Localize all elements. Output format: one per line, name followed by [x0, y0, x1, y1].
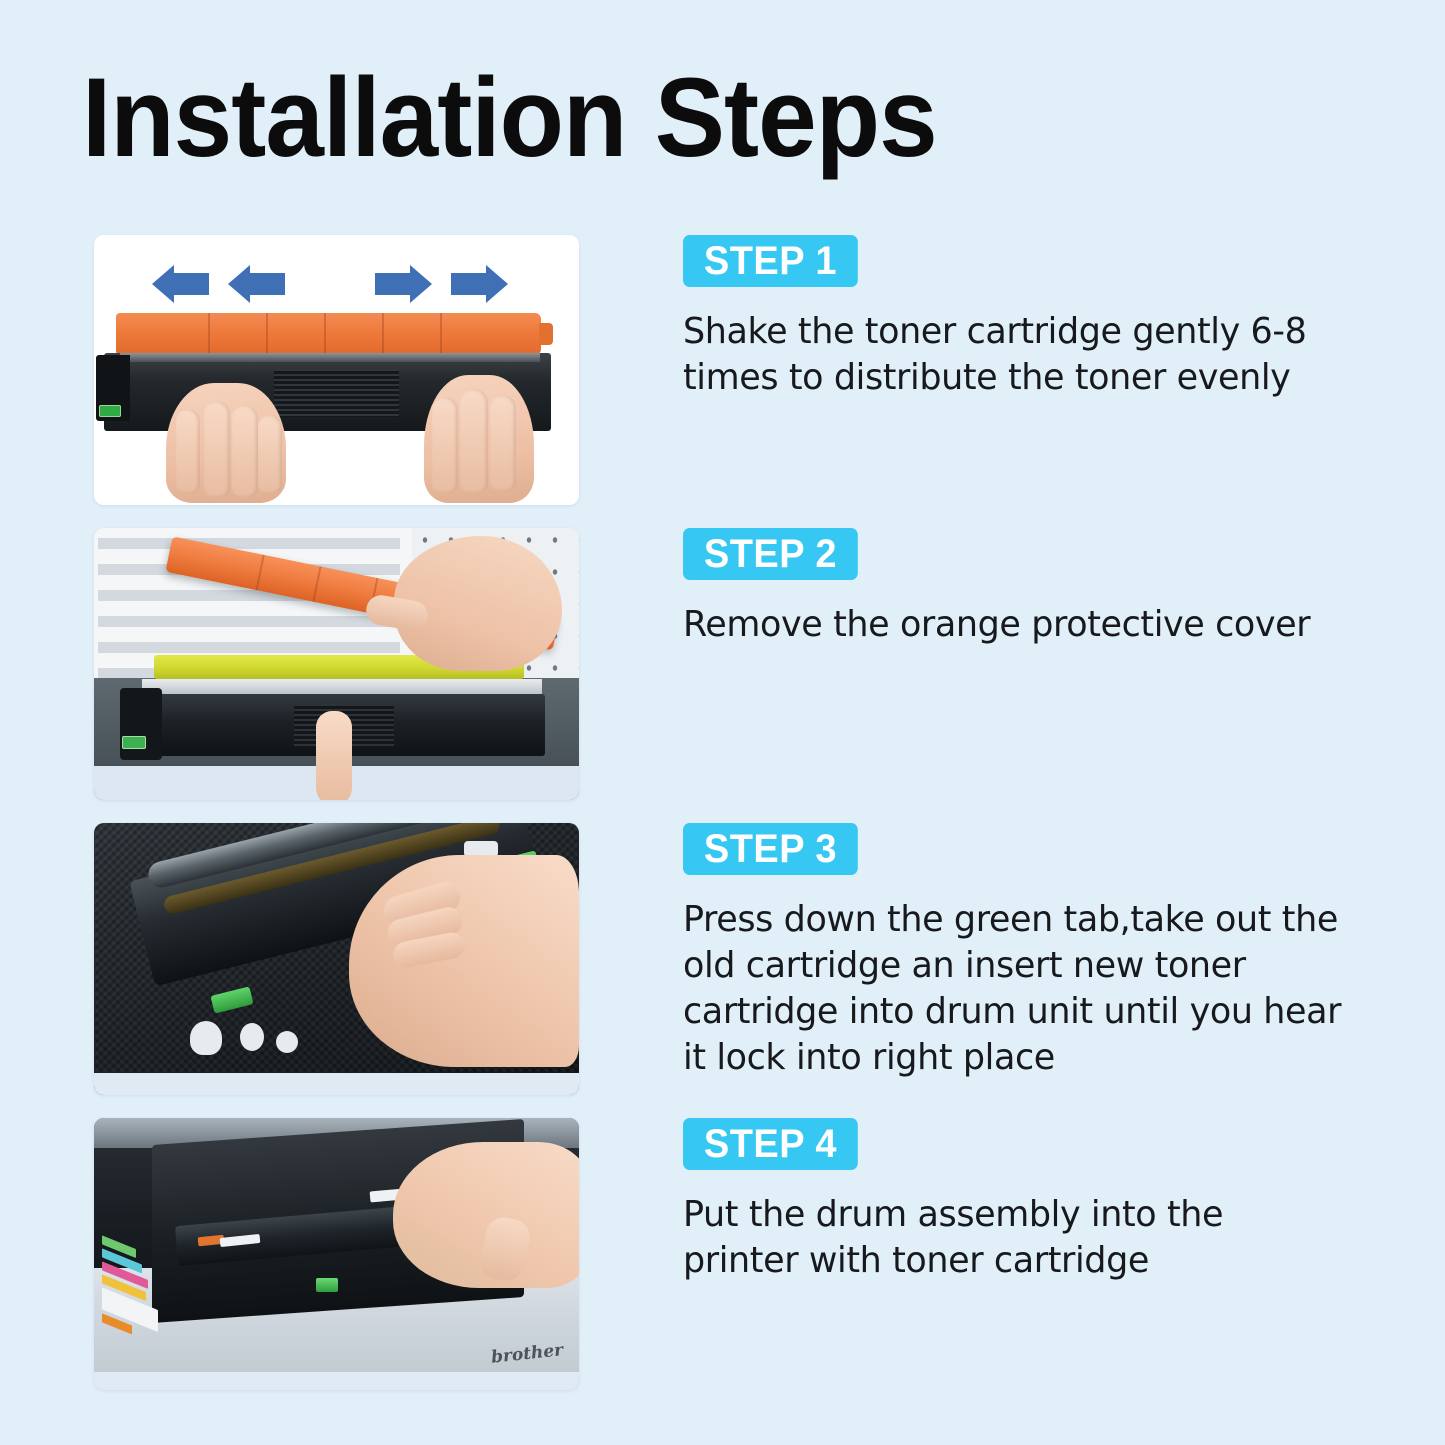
cartridge-chip — [122, 736, 146, 749]
toner-cartridge-shake-photo — [94, 235, 579, 505]
step-2-description: Remove the orange protective cover — [683, 602, 1343, 648]
step-1-description: Shake the toner cartridge gently 6-8 tim… — [683, 309, 1343, 401]
step-row: brother STEP 4 Put the drum assembly int… — [0, 1118, 1445, 1390]
left-hand — [166, 383, 286, 503]
photo-bottom-edge — [94, 1073, 579, 1095]
step-row: STEP 1 Shake the toner cartridge gently … — [0, 235, 1445, 505]
remove-orange-cover-photo — [94, 528, 579, 800]
press-green-tab-photo — [94, 823, 579, 1095]
step-4-description: Put the drum assembly into the printer w… — [683, 1192, 1343, 1284]
step-1-badge: STEP 1 — [683, 235, 858, 287]
step-4-text: STEP 4 Put the drum assembly into the pr… — [683, 1118, 1373, 1284]
step-2-badge: STEP 2 — [683, 528, 858, 580]
drum-gear — [190, 1021, 222, 1055]
step-1-image-card — [94, 235, 579, 505]
cartridge-end-cap — [120, 688, 162, 760]
step-2-text: STEP 2 Remove the orange protective cove… — [683, 528, 1373, 648]
step-1-text: STEP 1 Shake the toner cartridge gently … — [683, 235, 1373, 401]
cartridge-lip — [120, 353, 540, 362]
right-hand — [349, 855, 579, 1067]
step-4-badge: STEP 4 — [683, 1118, 858, 1170]
installation-steps-list: STEP 1 Shake the toner cartridge gently … — [0, 0, 1445, 1445]
step-3-badge: STEP 3 — [683, 823, 858, 875]
photo-bottom-edge — [94, 1372, 579, 1390]
right-hand — [424, 375, 534, 503]
step-row: STEP 3 Press down the green tab,take out… — [0, 823, 1445, 1095]
supporting-finger — [316, 711, 352, 800]
cartridge-grip-ribs — [274, 369, 399, 417]
step-4-image-card: brother — [94, 1118, 579, 1390]
drum-gear — [240, 1023, 264, 1051]
step-2-image-card — [94, 528, 579, 800]
orange-protective-cover — [116, 313, 541, 355]
step-3-description: Press down the green tab,take out the ol… — [683, 897, 1343, 1081]
green-tab — [316, 1278, 338, 1292]
drum-gear — [276, 1031, 298, 1053]
step-3-text: STEP 3 Press down the green tab,take out… — [683, 823, 1373, 1081]
step-3-image-card — [94, 823, 579, 1095]
insert-drum-into-printer-photo: brother — [94, 1118, 579, 1390]
cartridge-chip — [99, 405, 121, 417]
step-row: STEP 2 Remove the orange protective cove… — [0, 528, 1445, 800]
